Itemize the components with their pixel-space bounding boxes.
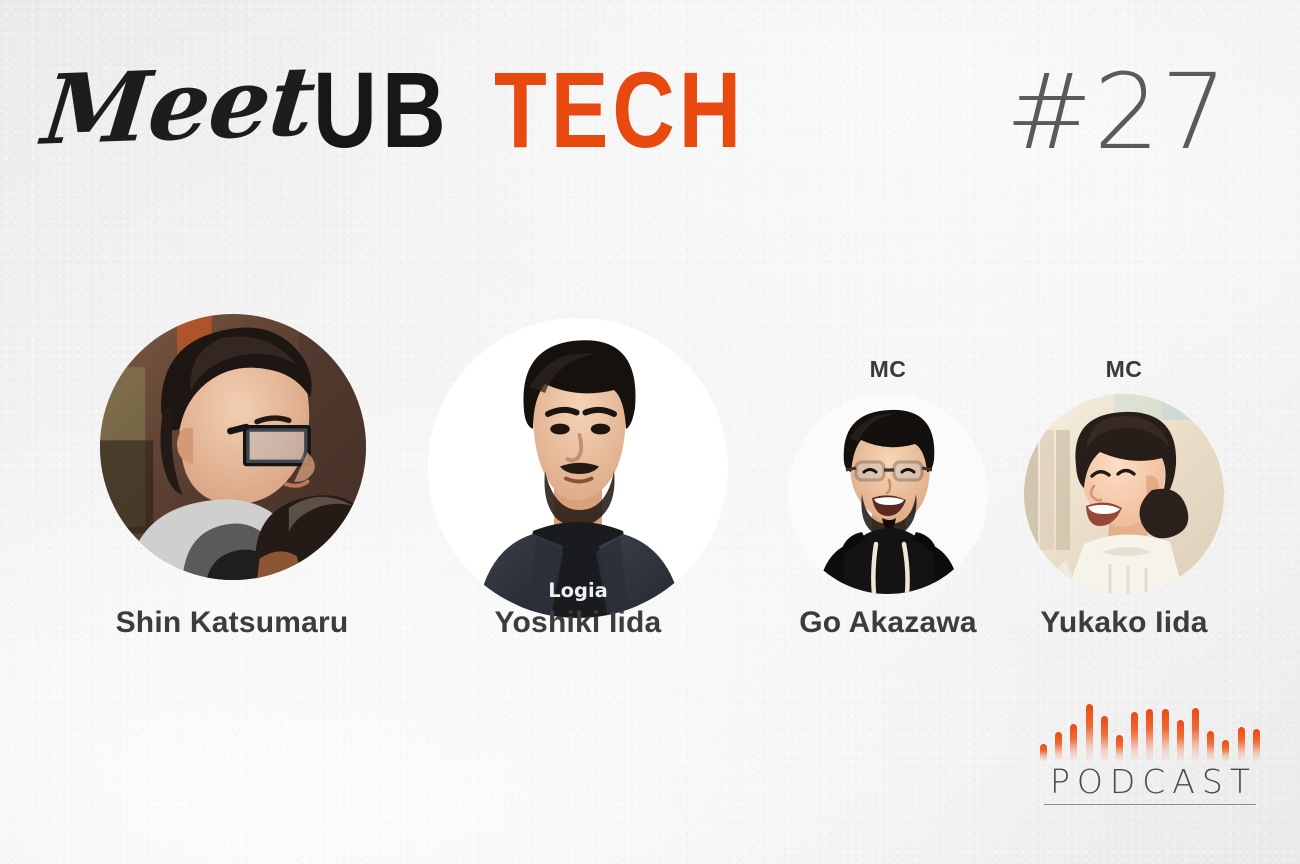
- photo-portrait-avatar: [100, 314, 366, 580]
- poster-canvas: Meet UB TECH #27: [0, 0, 1300, 864]
- waveform-bar: [1238, 727, 1245, 762]
- waveform-bar: [1222, 740, 1229, 762]
- podcast-logo: PODCAST: [1036, 700, 1264, 812]
- avatar-yukako-iida: [1024, 394, 1224, 594]
- waveform-bar: [1253, 729, 1260, 762]
- svg-text:Logia: Logia: [548, 579, 608, 602]
- role-badge-mc: MC: [768, 356, 1008, 383]
- photo-portrait-avatar: [788, 394, 988, 594]
- avatar-shin-katsumaru: [100, 314, 366, 580]
- waveform-bar: [1177, 720, 1184, 762]
- waveform-bar: [1086, 704, 1093, 762]
- waveform-bar: [1116, 735, 1123, 762]
- photo-portrait-avatar: [1024, 394, 1224, 594]
- guest-name: Shin Katsumaru: [82, 606, 382, 640]
- waveform-bar: [1101, 716, 1108, 762]
- waveform-bar: [1146, 709, 1153, 762]
- podcast-wordmark: PODCAST: [1036, 764, 1264, 800]
- waveform-bar: [1207, 731, 1214, 762]
- avatar-yoshiki-iida: Logia: [428, 318, 728, 618]
- waveform-bar: [1162, 709, 1169, 762]
- role-badge-mc: MC: [1004, 356, 1244, 383]
- waveform-bar: [1055, 732, 1062, 762]
- waveform-bar: [1040, 744, 1047, 762]
- guest-name: Yoshiki Iida: [418, 606, 738, 640]
- audio-waveform-icon: [1036, 700, 1264, 762]
- waveform-bar: [1070, 724, 1077, 762]
- waveform-bar: [1192, 708, 1199, 762]
- avatar-go-akazawa: [788, 394, 988, 594]
- photo-portrait-avatar: Logia: [428, 318, 728, 618]
- waveform-bar: [1131, 712, 1138, 762]
- podcast-underline: [1044, 804, 1256, 805]
- guest-name: Yukako Iida: [1004, 606, 1244, 640]
- guest-name: Go Akazawa: [768, 606, 1008, 640]
